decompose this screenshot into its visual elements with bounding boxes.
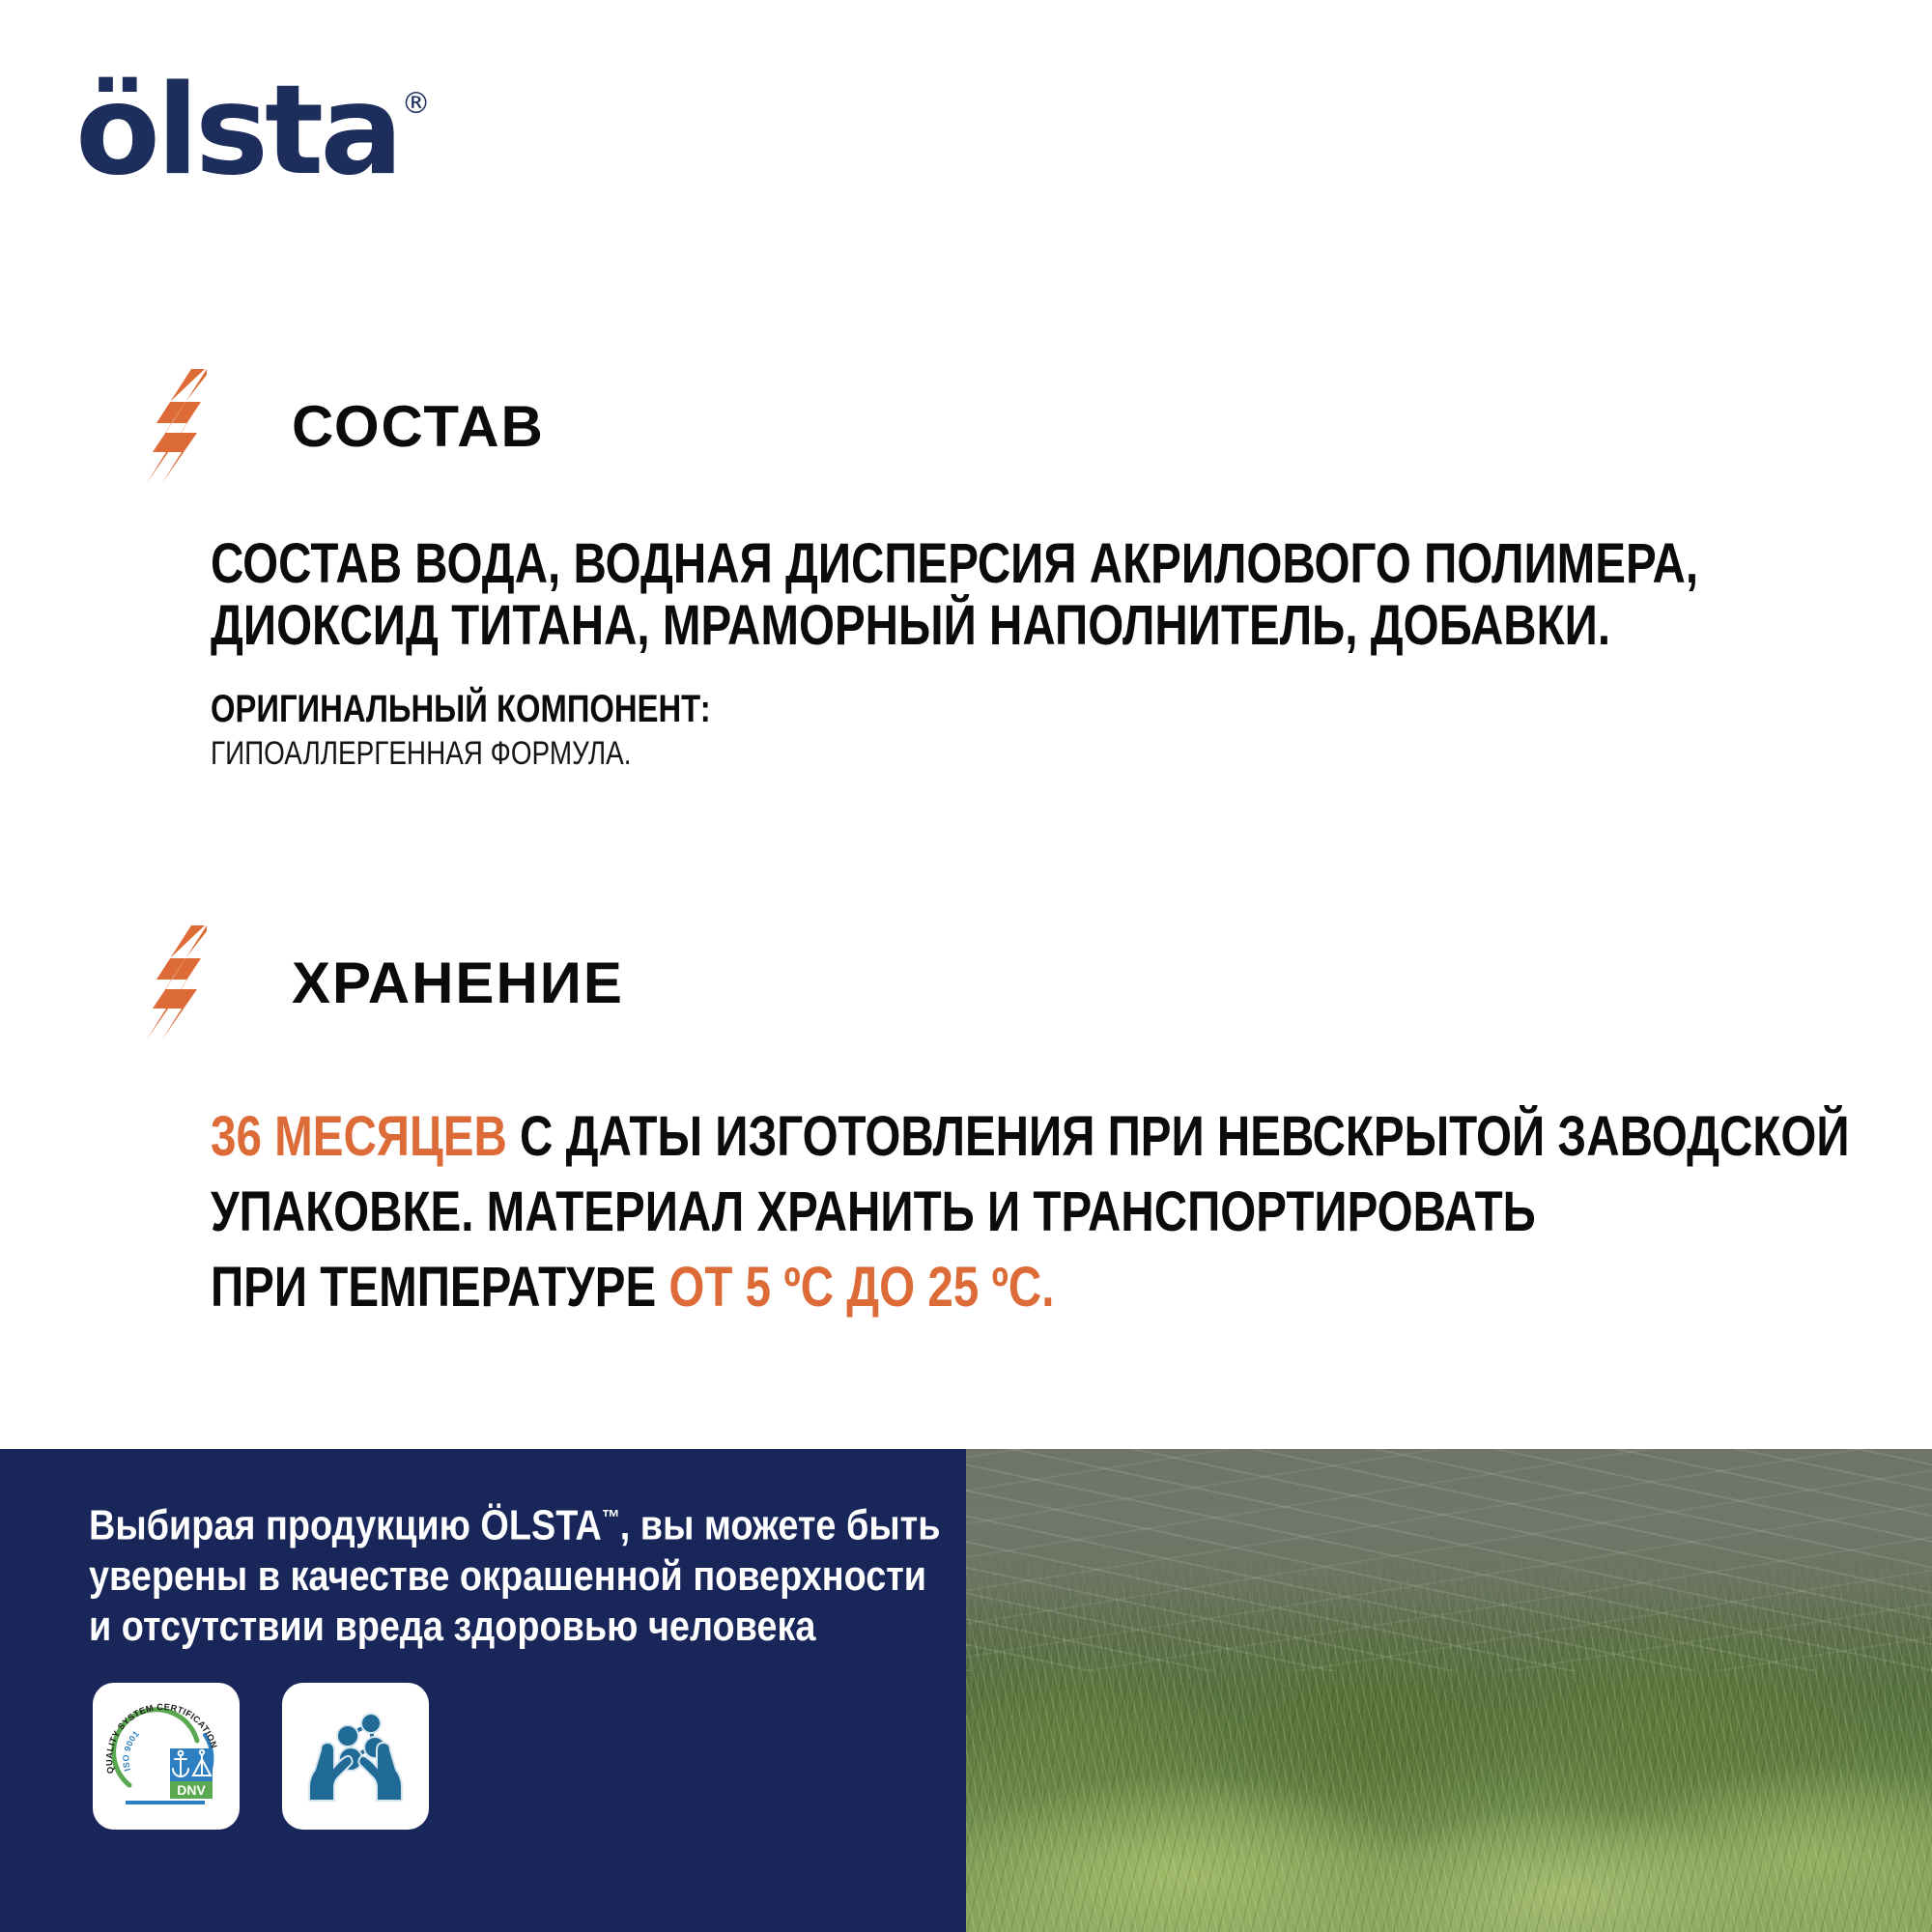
hranenie-line-2: УПАКОВКЕ. МАТЕРИАЛ ХРАНИТЬ И ТРАНСПОРТИР… <box>211 1175 1850 1250</box>
section-title-hranenie: ХРАНЕНИЕ <box>292 950 624 1016</box>
logo-wordmark: ölsta <box>75 70 400 193</box>
dnv-iso-9001-badge: QUALITY SYSTEM CERTIFICATION ISO 9001 DN… <box>93 1683 240 1830</box>
section-header-sostav: СОСТАВ <box>145 369 545 483</box>
svg-text:ISO 9001: ISO 9001 <box>121 1729 141 1773</box>
lightning-bolt-icon <box>145 369 207 483</box>
photo-grass-area <box>966 1449 1932 1932</box>
shelf-life-rest: С ДАТЫ ИЗГОТОВЛЕНИЯ ПРИ НЕВСКРЫТОЙ ЗАВОД… <box>507 1105 1850 1168</box>
trademark-icon: ™ <box>602 1505 620 1529</box>
section-header-hranenie: ХРАНЕНИЕ <box>145 925 624 1039</box>
badge-iso-text: ISO 9001 <box>121 1729 141 1773</box>
safe-hands-molecule-badge <box>282 1683 429 1830</box>
brand-logo: ölsta ® <box>75 70 431 193</box>
footer-line-1-pre: Выбирая продукцию <box>89 1502 480 1549</box>
sostav-body-line-1: СОСТАВ ВОДА, ВОДНАЯ ДИСПЕРСИЯ АКРИЛОВОГО… <box>211 533 1698 595</box>
sostav-body: СОСТАВ ВОДА, ВОДНАЯ ДИСПЕРСИЯ АКРИЛОВОГО… <box>211 533 1932 657</box>
hranenie-line-3: ПРИ ТЕМПЕРАТУРЕ ОТ 5 ºC ДО 25 ºC. <box>211 1250 1850 1325</box>
section-title-sostav: СОСТАВ <box>292 393 545 460</box>
safe-hands-molecule-icon <box>301 1702 410 1810</box>
sostav-original-component: ОРИГИНАЛЬНЫЙ КОМПОНЕНТ: ГИПОАЛЛЕРГЕННАЯ … <box>211 686 820 775</box>
registered-trademark-icon: ® <box>402 87 431 121</box>
nature-photo <box>966 1449 1932 1932</box>
footer-brand-name: ÖLSTA <box>480 1502 601 1549</box>
certification-badges: QUALITY SYSTEM CERTIFICATION ISO 9001 DN… <box>93 1683 429 1830</box>
temperature-label: ПРИ ТЕМПЕРАТУРЕ <box>211 1256 668 1319</box>
footer-line-1: Выбирая продукцию ÖLSTA™, вы можете быть <box>89 1492 940 1551</box>
sostav-body-line-2: ДИОКСИД ТИТАНА, МРАМОРНЫЙ НАПОЛНИТЕЛЬ, Д… <box>211 595 1698 657</box>
temperature-range-value: ОТ 5 ºC ДО 25 ºC. <box>668 1256 1054 1319</box>
footer-line-2: уверены в качестве окрашенной поверхност… <box>89 1551 940 1602</box>
lightning-bolt-icon <box>145 925 207 1039</box>
original-component-heading: ОРИГИНАЛЬНЫЙ КОМПОНЕНТ: <box>211 686 711 732</box>
hranenie-body: 36 МЕСЯЦЕВ С ДАТЫ ИЗГОТОВЛЕНИЯ ПРИ НЕВСК… <box>211 1099 1932 1325</box>
original-component-text: ГИПОАЛЛЕРГЕННАЯ ФОРМУЛА. <box>211 732 711 775</box>
hranenie-line-1: 36 МЕСЯЦЕВ С ДАТЫ ИЗГОТОВЛЕНИЯ ПРИ НЕВСК… <box>211 1099 1850 1175</box>
shelf-life-value: 36 МЕСЯЦЕВ <box>211 1105 507 1168</box>
dnv-iso-9001-icon: QUALITY SYSTEM CERTIFICATION ISO 9001 DN… <box>104 1694 228 1818</box>
footer-line-1-post: , вы можете быть <box>620 1502 941 1549</box>
badge-dnv-text: DNV <box>177 1782 206 1798</box>
footer-message: Выбирая продукцию ÖLSTA™, вы можете быть… <box>89 1492 1079 1652</box>
footer-line-3: и отсутствии вреда здоровью человека <box>89 1602 940 1652</box>
